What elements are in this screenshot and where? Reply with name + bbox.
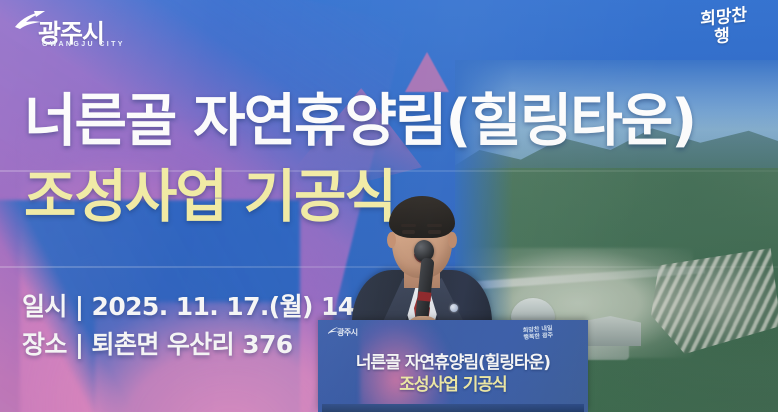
speaker-eyebrow-left (401, 224, 416, 227)
podium-slogan: 희망찬 내일 행복한 광주 (506, 323, 571, 343)
speaker-eyebrow-right (427, 224, 442, 227)
logo-english-text: GWANGJU CITY (42, 41, 125, 48)
speaker-eye-left (402, 230, 415, 234)
gwangju-city-logo: 광주시 GWANGJU CITY (14, 8, 126, 52)
speaker-lapel-pin (450, 304, 458, 312)
microphone-red-band (418, 291, 432, 301)
speaker-ear-left (387, 232, 396, 248)
speaker-hair (389, 196, 455, 238)
banner-corner-slogan: 희망찬 행 (700, 1, 778, 59)
podium-city-logo: 광주시 (328, 327, 362, 339)
photograph-scene: 광주시 GWANGJU CITY 희망찬 행 너른골 자연휴양림(힐링타운) 조… (0, 0, 778, 412)
podium-sign: 광주시 희망찬 내일 행복한 광주 너른골 자연휴양림(힐링타운) 조성사업 기… (318, 320, 588, 412)
podium-logo-korean-text: 광주시 (337, 327, 358, 338)
podium-title-line2: 조성사업 기공식 (318, 370, 588, 395)
podium-base (322, 404, 584, 412)
speaker-ear-right (448, 232, 457, 248)
banner-headline: 너른골 자연휴양림(힐링타운) (24, 84, 778, 158)
speaker-eye-right (428, 230, 441, 234)
